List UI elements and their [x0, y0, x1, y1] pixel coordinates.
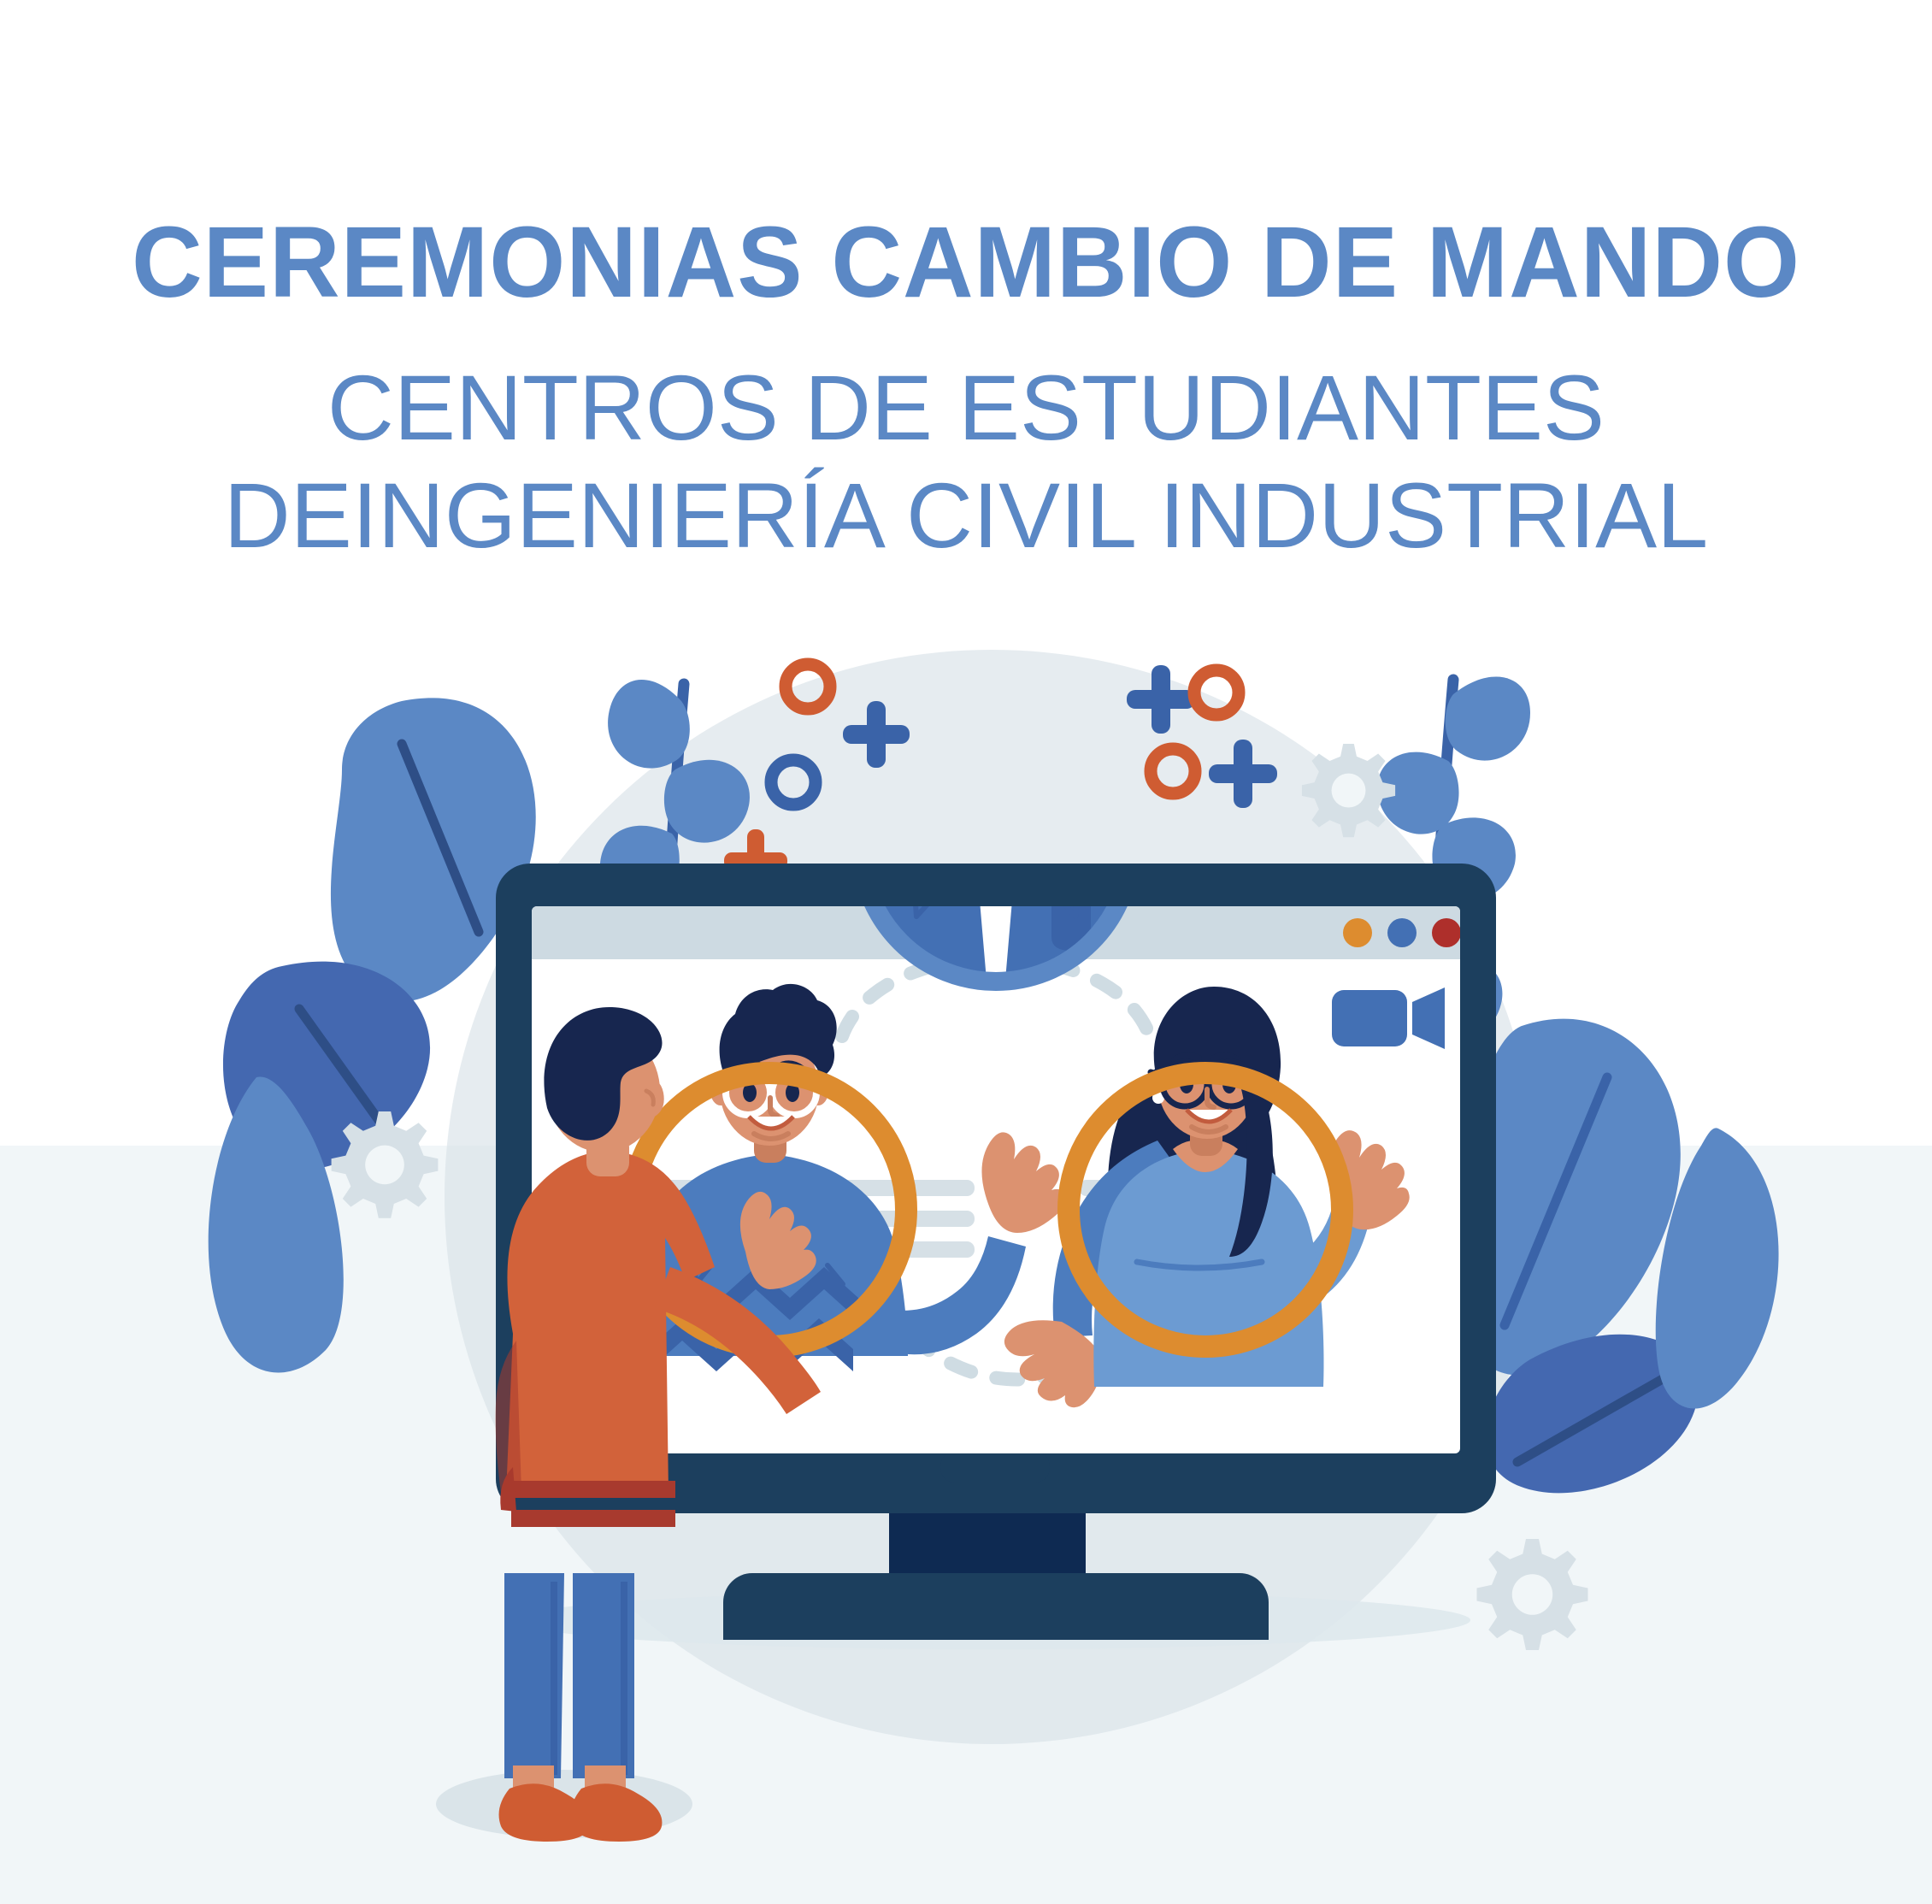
page-subtitle-line-2: DEINGENIERÍA CIVIL INDUSTRIAL	[0, 462, 1932, 569]
gear-icon	[1477, 1539, 1588, 1650]
page-subtitle-line-1: CENTROS DE ESTUDIANTES	[327, 356, 1605, 459]
poster-header: CEREMONIAS CAMBIO DE MANDO CENTROS DE ES…	[0, 0, 1932, 570]
window-dot-orange	[1343, 918, 1372, 947]
leaf-icon	[1446, 677, 1530, 761]
video-conference-illustration	[0, 650, 1932, 1904]
poster-canvas: CEREMONIAS CAMBIO DE MANDO CENTROS DE ES…	[0, 0, 1932, 1904]
page-subtitle: CENTROS DE ESTUDIANTES DEINGENIERÍA CIVI…	[0, 313, 1932, 570]
gear-icon	[332, 1111, 439, 1218]
page-title: CEREMONIAS CAMBIO DE MANDO	[29, 0, 1903, 313]
sweater-stripe	[511, 1510, 675, 1527]
sweater-stripe	[511, 1481, 675, 1498]
leaf-icon	[608, 680, 690, 769]
monitor-notch	[940, 1452, 1050, 1483]
gear-icon	[1302, 744, 1395, 837]
monitor-base	[723, 1573, 1269, 1640]
window-dot-blue	[1387, 918, 1417, 947]
video-camera-icon[interactable]	[1332, 987, 1445, 1049]
window-dot-red	[1432, 918, 1461, 947]
